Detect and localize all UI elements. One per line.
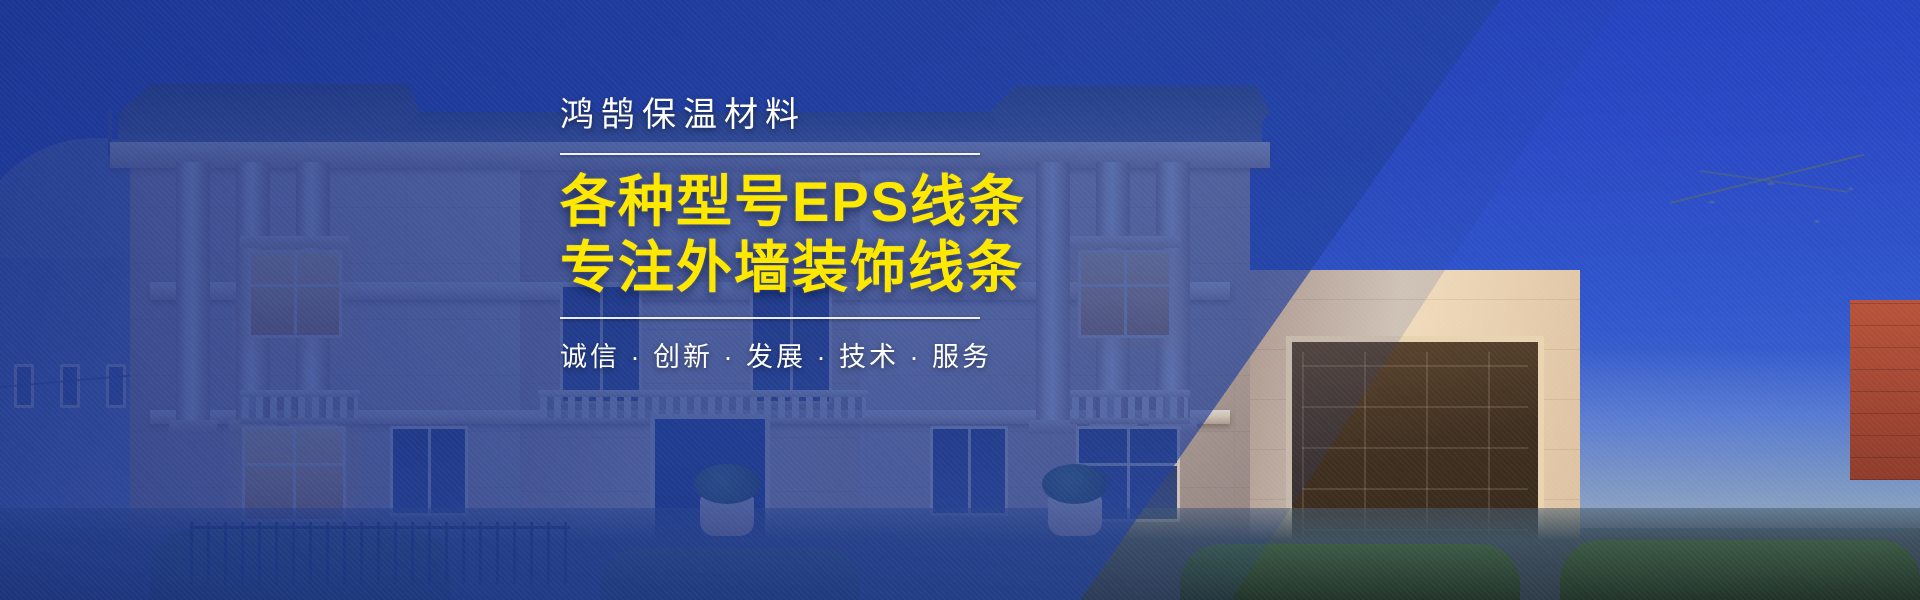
- balustrade: [240, 390, 360, 424]
- headline-line-1: 各种型号EPS线条: [560, 169, 1120, 235]
- balustrade-base: [1070, 418, 1190, 424]
- window-mullion: [428, 429, 431, 513]
- promo-banner: 鸿鹄保温材料 各种型号EPS线条 专注外墙装饰线条 诚信 · 创新 · 发展 ·…: [0, 0, 1920, 600]
- fence-rail: [190, 526, 570, 529]
- iron-fence: [190, 522, 570, 584]
- window-mullion: [1127, 429, 1130, 519]
- window-mullion: [1124, 253, 1127, 335]
- hedge: [1180, 544, 1520, 600]
- window-transom: [1079, 463, 1177, 466]
- window-transom: [245, 463, 343, 466]
- balustrade-base: [240, 418, 360, 424]
- tree-branch: [1670, 150, 1880, 280]
- divider-bottom: [560, 317, 980, 319]
- planter-bush: [694, 464, 760, 504]
- window-lit: [248, 250, 342, 338]
- balustrade: [1070, 390, 1190, 424]
- window: [390, 426, 468, 516]
- balustrade-posts: [242, 397, 358, 418]
- window-transom: [251, 284, 339, 287]
- window: [930, 426, 1008, 516]
- headline-line-2: 专注外墙装饰线条: [560, 235, 1120, 301]
- planter-pot: [1048, 496, 1102, 536]
- window-mullion: [294, 253, 297, 335]
- distant-window: [60, 364, 80, 408]
- balustrade-rail: [1070, 390, 1190, 397]
- divider-top: [560, 153, 980, 155]
- banner-copy: 鸿鹄保温材料 各种型号EPS线条 专注外墙装饰线条 诚信 · 创新 · 发展 ·…: [560, 96, 1120, 374]
- planter-pot: [700, 496, 754, 536]
- window-mullion: [968, 429, 971, 513]
- villa-roof-left-wing: [120, 84, 420, 130]
- window-mullion: [293, 429, 296, 519]
- balustrade-rail: [240, 390, 360, 397]
- balustrade-posts: [1072, 397, 1188, 418]
- column: [176, 160, 210, 422]
- balustrade-rail: [538, 390, 868, 397]
- tagline: 诚信 · 创新 · 发展 · 技术 · 服务: [560, 335, 1120, 374]
- hedge: [1560, 540, 1920, 600]
- planter-bush: [1042, 464, 1108, 504]
- hedge: [600, 548, 860, 600]
- brand-name: 鸿鹄保温材料: [560, 96, 1120, 135]
- window-pediment: [240, 236, 350, 248]
- red-structure: [1850, 300, 1920, 480]
